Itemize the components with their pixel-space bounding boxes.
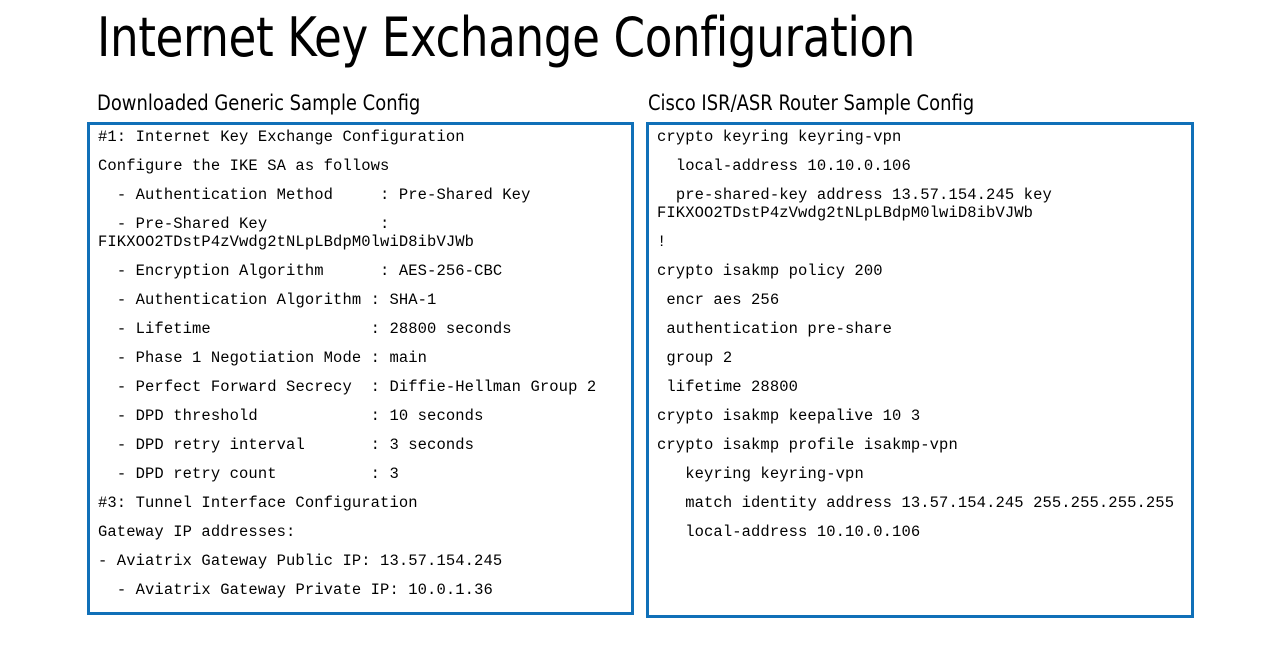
config-line: - Encryption Algorithm : AES-256-CBC: [98, 263, 625, 281]
config-line: crypto isakmp keepalive 10 3: [657, 408, 1185, 426]
config-line: - DPD threshold : 10 seconds: [98, 408, 625, 426]
generic-sample-config-panel: #1: Internet Key Exchange ConfigurationC…: [87, 122, 634, 615]
config-line: Gateway IP addresses:: [98, 524, 625, 542]
config-line: #1: Internet Key Exchange Configuration: [98, 129, 625, 147]
config-line: group 2: [657, 350, 1185, 368]
config-line: Configure the IKE SA as follows: [98, 158, 625, 176]
config-line: encr aes 256: [657, 292, 1185, 310]
config-line: - DPD retry count : 3: [98, 466, 625, 484]
slide-canvas: Internet Key Exchange Configuration Down…: [0, 0, 1280, 654]
config-line: - Lifetime : 28800 seconds: [98, 321, 625, 339]
config-line: - Aviatrix Gateway Public IP: 13.57.154.…: [98, 553, 625, 571]
config-line: local-address 10.10.0.106: [657, 158, 1185, 176]
config-line: authentication pre-share: [657, 321, 1185, 339]
config-line: - Phase 1 Negotiation Mode : main: [98, 350, 625, 368]
config-line: !: [657, 234, 1185, 252]
config-line: - Aviatrix Gateway Private IP: 10.0.1.36: [98, 582, 625, 600]
config-line: keyring keyring-vpn: [657, 466, 1185, 484]
config-line: - Pre-Shared Key : FIKXOO2TDstP4zVwdg2tN…: [98, 216, 625, 251]
config-line: crypto isakmp profile isakmp-vpn: [657, 437, 1185, 455]
config-line: local-address 10.10.0.106: [657, 524, 1185, 542]
config-line: pre-shared-key address 13.57.154.245 key…: [657, 187, 1185, 222]
left-column-heading: Downloaded Generic Sample Config: [97, 90, 420, 116]
right-column-heading: Cisco ISR/ASR Router Sample Config: [648, 90, 974, 116]
config-line: - Perfect Forward Secrecy : Diffie-Hellm…: [98, 379, 625, 397]
config-line: crypto isakmp policy 200: [657, 263, 1185, 281]
cisco-sample-config-panel: crypto keyring keyring-vpn local-address…: [646, 122, 1194, 618]
config-line: #3: Tunnel Interface Configuration: [98, 495, 625, 513]
config-line: - DPD retry interval : 3 seconds: [98, 437, 625, 455]
page-title: Internet Key Exchange Configuration: [97, 4, 1120, 72]
config-line: - Authentication Algorithm : SHA-1: [98, 292, 625, 310]
config-line: lifetime 28800: [657, 379, 1185, 397]
config-line: crypto keyring keyring-vpn: [657, 129, 1185, 147]
config-line: - Authentication Method : Pre-Shared Key: [98, 187, 625, 205]
config-line: match identity address 13.57.154.245 255…: [657, 495, 1185, 513]
